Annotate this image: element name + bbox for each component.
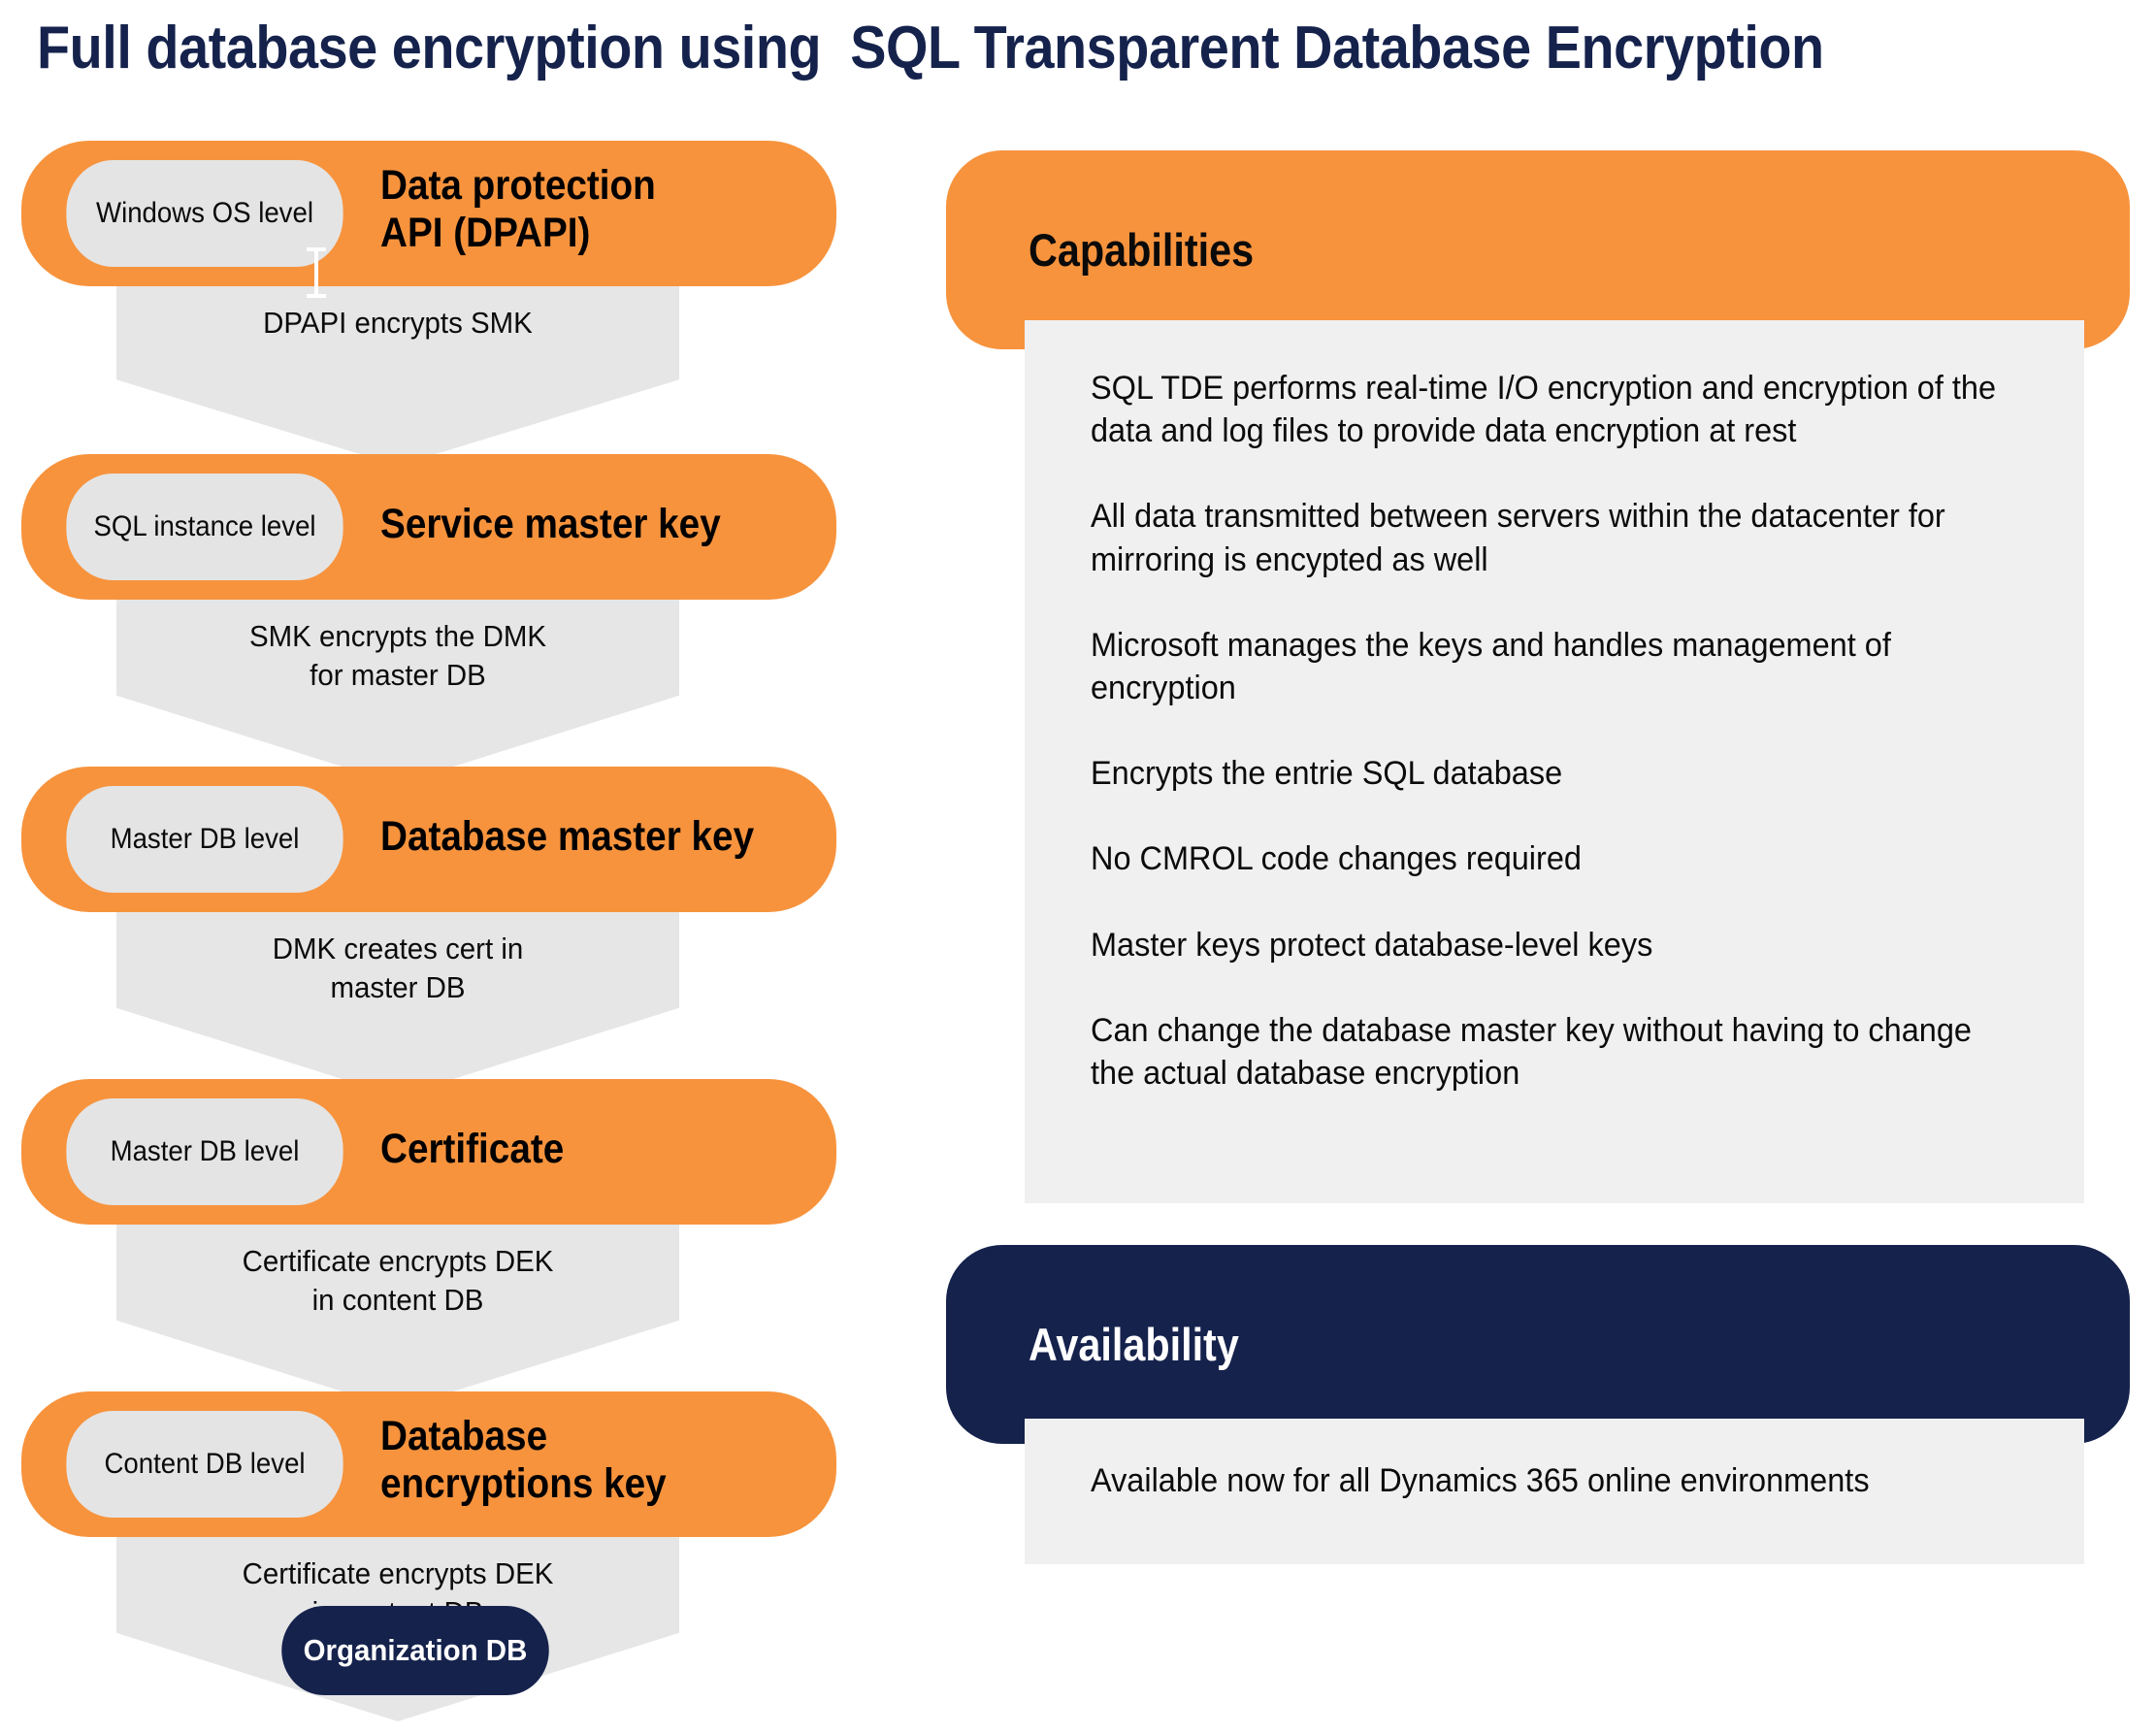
- list-item: All data transmitted between servers wit…: [1091, 495, 2011, 580]
- capabilities-panel-body: SQL TDE performs real-time I/O encryptio…: [1025, 320, 2084, 1203]
- flow-connector-label-2: SMK encrypts the DMK for master DB: [131, 617, 666, 694]
- flow-step-badge-1: Windows OS level: [66, 160, 343, 267]
- flow-step-pill-3[interactable]: Master DB level Database master key: [21, 767, 836, 912]
- flow-step-badge-2: SQL instance level: [66, 474, 343, 580]
- flow-connector-label-1: DPAPI encrypts SMK: [131, 304, 666, 343]
- flow-step-title-5: Database encryptions key: [380, 1413, 667, 1508]
- organization-db-node[interactable]: Organization DB: [281, 1606, 549, 1695]
- availability-list: Available now for all Dynamics 365 onlin…: [1091, 1459, 2055, 1502]
- availability-panel-header[interactable]: Availability: [946, 1245, 2130, 1444]
- flow-connector-label-4: Certificate encrypts DEK in content DB: [131, 1242, 666, 1319]
- availability-header-label: Availability: [1029, 1318, 1239, 1371]
- list-item: Master keys protect database-level keys: [1091, 924, 2011, 966]
- availability-panel-body: Available now for all Dynamics 365 onlin…: [1025, 1419, 2084, 1564]
- flow-step-badge-4: Master DB level: [66, 1098, 343, 1205]
- flow-connector-2: SMK encrypts the DMK for master DB: [116, 600, 679, 784]
- flow-connector-label-3: DMK creates cert in master DB: [131, 930, 666, 1006]
- flow-connector-4: Certificate encrypts DEK in content DB: [116, 1225, 679, 1409]
- page-title: Full database encryption using SQL Trans…: [37, 14, 1824, 82]
- list-item: Can change the database master key witho…: [1091, 1009, 2011, 1095]
- flow-step-pill-4[interactable]: Master DB level Certificate: [21, 1079, 836, 1225]
- list-item: SQL TDE performs real-time I/O encryptio…: [1091, 367, 2011, 452]
- list-item: Encrypts the entrie SQL database: [1091, 752, 2011, 795]
- list-item: No CMROL code changes required: [1091, 837, 2011, 880]
- diagram-canvas: Full database encryption using SQL Trans…: [0, 0, 2156, 1734]
- flow-step-title-1: Data protection API (DPAPI): [380, 162, 656, 257]
- flow-step-pill-1[interactable]: Windows OS level Data protection API (DP…: [21, 141, 836, 286]
- flow-step-pill-2[interactable]: SQL instance level Service master key: [21, 454, 836, 600]
- flow-step-badge-3: Master DB level: [66, 786, 343, 893]
- flow-step-title-3: Database master key: [380, 813, 754, 861]
- flow-connector-1: DPAPI encrypts SMK: [116, 286, 679, 466]
- flow-step-title-4: Certificate: [380, 1126, 564, 1173]
- encryption-key-chain-flow: Windows OS level Data protection API (DP…: [0, 141, 854, 1722]
- flow-step-pill-5[interactable]: Content DB level Database encryptions ke…: [21, 1391, 836, 1537]
- capabilities-list: SQL TDE performs real-time I/O encryptio…: [1091, 367, 2055, 1095]
- list-item: Microsoft manages the keys and handles m…: [1091, 624, 2011, 709]
- capabilities-header-label: Capabilities: [1029, 223, 1254, 277]
- flow-step-badge-5: Content DB level: [66, 1411, 343, 1518]
- flow-step-title-2: Service master key: [380, 501, 721, 548]
- flow-connector-3: DMK creates cert in master DB: [116, 912, 679, 1096]
- list-item: Available now for all Dynamics 365 onlin…: [1091, 1459, 2011, 1502]
